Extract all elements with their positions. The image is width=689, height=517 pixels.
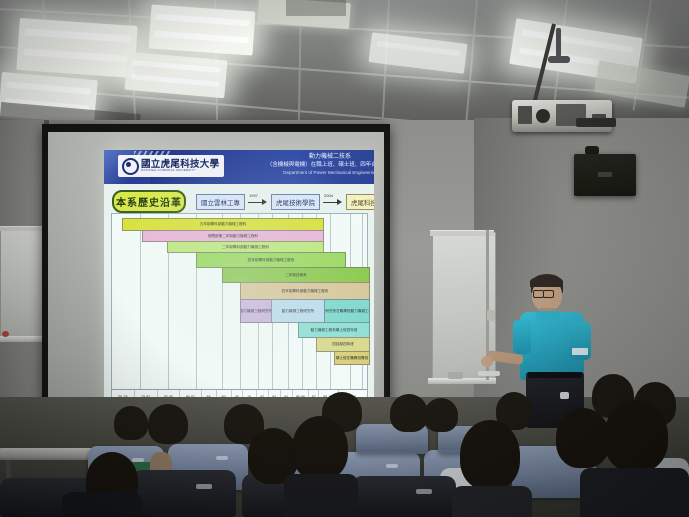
presenter-pointer[interactable] <box>478 371 500 376</box>
slide-title-pill: 本系歷史沿革 <box>112 190 186 213</box>
chain-arrow-1: 2004 <box>323 197 343 207</box>
audience-body <box>62 492 142 517</box>
slide-title-text: 本系歷史沿革 <box>116 194 182 209</box>
presenter-hairline <box>530 276 563 287</box>
chain-item-2: 虎尾科技大學 <box>346 194 374 210</box>
slide-header-band: 國立虎尾科技大學 NATIONAL FORMOSA UNIVERSITY 動力機… <box>104 150 374 184</box>
chain-year-1: 1997 <box>249 193 258 198</box>
gantt-bar: 四年制專科部動力機械工程系 <box>240 282 370 300</box>
dept-line-en: Department of Power Mechanical Engineeri… <box>240 169 374 177</box>
audience-head <box>292 416 348 480</box>
ceiling-light-panel <box>149 4 256 55</box>
presenter-belt <box>528 372 582 378</box>
whiteboard-eraser[interactable] <box>448 372 463 379</box>
chair[interactable] <box>132 470 236 517</box>
presenter-watch <box>560 392 569 399</box>
presenter-sleeve-logo <box>572 348 588 355</box>
gantt-bar: 動力機械工程研究所 <box>271 299 325 323</box>
chain-item-1: 虎尾技術學院 <box>271 194 320 210</box>
wall-switch[interactable] <box>487 310 495 321</box>
audience-head <box>604 400 668 472</box>
gantt-bar: 動力機械工程研究所 <box>240 299 272 323</box>
lecture-hall-photo: 國立虎尾科技大學 NATIONAL FORMOSA UNIVERSITY 動力機… <box>0 0 689 517</box>
projector-mount-pole <box>556 28 561 58</box>
gantt-bar-label: 動力機械工程研究所在職專班動力機械工程系在職專班 <box>324 309 370 313</box>
gantt-bar-label: 二年制技術系 <box>284 273 308 277</box>
ceiling-projector <box>512 100 612 132</box>
projected-slide: 國立虎尾科技大學 NATIONAL FORMOSA UNIVERSITY 動力機… <box>104 150 374 410</box>
chair[interactable] <box>352 476 456 517</box>
gantt-bar: 碩士班在職專班專班 <box>334 351 370 365</box>
gantt-bar: 動力機械工程研究所在職專班動力機械工程系在職專班 <box>324 299 370 323</box>
gantt-bar-label: 四技部四年班 <box>331 342 355 346</box>
dept-line-2: （含機械與電機）在職上班、碩士班、四年合班專班 <box>240 161 374 169</box>
ceiling-light-panel <box>16 18 137 78</box>
audience-head <box>424 398 458 432</box>
audience-head <box>460 420 520 490</box>
institution-evolution-chain: 國立雲林工專 1997 虎尾技術學院 2004 虎尾科技大學 <box>196 194 374 210</box>
whiteboard-left <box>0 228 46 338</box>
audience-head <box>148 404 188 444</box>
gantt-bar: 動力機械工程系碩士班四年班 <box>298 322 370 338</box>
dept-line-1: 動力機械二技系 <box>240 153 374 161</box>
projector-cable <box>576 118 616 127</box>
gantt-bar-label: 碩士班在職專班專班 <box>335 356 369 360</box>
presenter-glasses-right <box>543 290 554 298</box>
university-logo: 國立虎尾科技大學 NATIONAL FORMOSA UNIVERSITY <box>118 155 224 177</box>
audience-body <box>452 486 532 517</box>
gantt-bar: 四年制專科部動力機械工程系 <box>196 252 346 268</box>
gantt-bar: 四技部四年班 <box>316 337 370 352</box>
gantt-bar-label: 五年制專科部動力機械工程科 <box>199 222 248 226</box>
chain-arrow-0: 1997 <box>248 197 268 207</box>
chain-item-0: 國立雲林工專 <box>196 194 245 210</box>
presenter-sleeve-left <box>513 320 531 354</box>
whiteboard-right-rail <box>430 230 494 236</box>
audience-head <box>556 408 610 468</box>
whiteboard-marker[interactable] <box>2 331 9 337</box>
gantt-bar-label: 夜間部第二年制動力機械工程科 <box>207 234 259 238</box>
gantt-bar: 二年制技術系 <box>222 267 370 283</box>
history-gantt-chart: 五年制專科部動力機械工程科 夜間部第二年制動力機械工程科 二年制專科部動力機械工… <box>111 213 368 404</box>
gantt-bar-label: 動力機械工程研究所 <box>281 309 315 313</box>
gantt-bar-label: 四年制專科部動力機械工程系 <box>281 289 330 293</box>
audience-body <box>284 474 358 517</box>
projector-mount-plate <box>548 56 570 63</box>
whiteboard-left-tray <box>0 336 46 342</box>
audience-head <box>390 394 428 432</box>
audience-head <box>114 406 148 440</box>
gantt-bar-label: 二年制專科部動力機械工程科 <box>221 245 270 249</box>
chain-year-2: 2004 <box>324 193 333 198</box>
wall-speaker <box>574 154 636 196</box>
whiteboard-left-rail <box>0 226 44 231</box>
slide-dept-title: 動力機械二技系 （含機械與電機）在職上班、碩士班、四年合班專班 Departme… <box>240 153 374 177</box>
gantt-bar-label: 動力機械工程系碩士班四年班 <box>310 328 359 332</box>
presenter-collar <box>536 311 560 321</box>
university-logo-mark <box>122 158 139 175</box>
presenter-hand-left <box>481 356 493 367</box>
gantt-bar-label: 動力機械工程研究所 <box>240 309 272 313</box>
audience-body <box>580 468 689 517</box>
gantt-bar-label: 四年制專科部動力機械工程系 <box>247 258 296 262</box>
